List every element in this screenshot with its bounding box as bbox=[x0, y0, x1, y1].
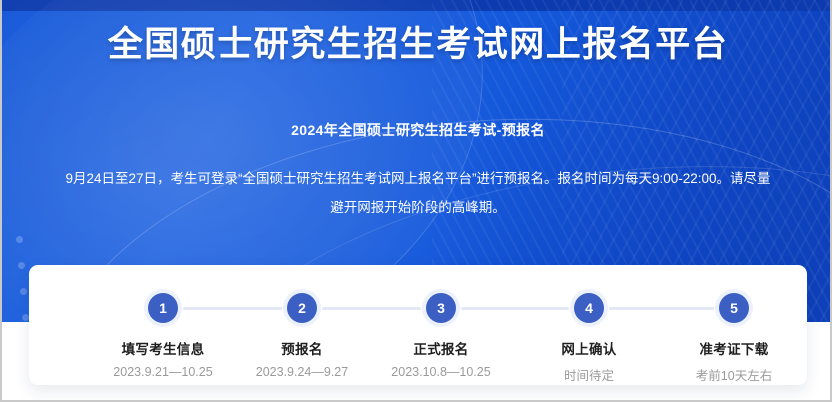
step-number: 3 bbox=[426, 293, 456, 323]
step-badge: 2 bbox=[227, 289, 377, 327]
page-title: 全国硕士研究生招生考试网上报名平台 bbox=[2, 22, 832, 68]
step-number-circle: 1 bbox=[144, 289, 182, 327]
step-badge: 1 bbox=[88, 289, 238, 327]
step-item[interactable]: 3正式报名2023.10.8—10.25 bbox=[366, 289, 516, 379]
step-number-circle: 4 bbox=[570, 289, 608, 327]
step-number-circle: 3 bbox=[422, 289, 460, 327]
step-item[interactable]: 5准考证下载考前10天左右 bbox=[659, 289, 809, 384]
step-date: 2023.9.21—10.25 bbox=[88, 365, 238, 379]
step-date: 考前10天左右 bbox=[659, 365, 809, 384]
step-badge: 3 bbox=[366, 289, 516, 327]
step-label: 预报名 bbox=[227, 338, 377, 358]
step-item[interactable]: 1填写考生信息2023.9.21—10.25 bbox=[88, 289, 238, 379]
step-badge: 5 bbox=[659, 289, 809, 327]
steps-timeline: 1填写考生信息2023.9.21—10.252预报名2023.9.24—9.27… bbox=[29, 265, 807, 385]
step-number-circle: 5 bbox=[715, 289, 753, 327]
step-label: 填写考生信息 bbox=[88, 338, 238, 358]
step-label: 网上确认 bbox=[514, 338, 664, 358]
step-date: 时间待定 bbox=[514, 365, 664, 384]
hero-description: 9月24日至27日，考生可登录“全国硕士研究生招生考试网上报名平台”进行预报名。… bbox=[62, 164, 774, 222]
step-date: 2023.9.24—9.27 bbox=[227, 365, 377, 379]
step-label: 正式报名 bbox=[366, 338, 516, 358]
step-number: 4 bbox=[574, 293, 604, 323]
hero-subtitle: 2024年全国硕士研究生招生考试-预报名 bbox=[2, 120, 832, 140]
step-date: 2023.10.8—10.25 bbox=[366, 365, 516, 379]
step-item[interactable]: 4网上确认时间待定 bbox=[514, 289, 664, 384]
step-number: 5 bbox=[719, 293, 749, 323]
step-number: 1 bbox=[148, 293, 178, 323]
registration-steps-card: 1填写考生信息2023.9.21—10.252预报名2023.9.24—9.27… bbox=[29, 265, 807, 385]
step-item[interactable]: 2预报名2023.9.24—9.27 bbox=[227, 289, 377, 379]
registration-platform-page: 全国硕士研究生招生考试网上报名平台 2024年全国硕士研究生招生考试-预报名 9… bbox=[0, 0, 832, 402]
step-number-circle: 2 bbox=[283, 289, 321, 327]
step-label: 准考证下载 bbox=[659, 338, 809, 358]
step-number: 2 bbox=[287, 293, 317, 323]
step-badge: 4 bbox=[514, 289, 664, 327]
